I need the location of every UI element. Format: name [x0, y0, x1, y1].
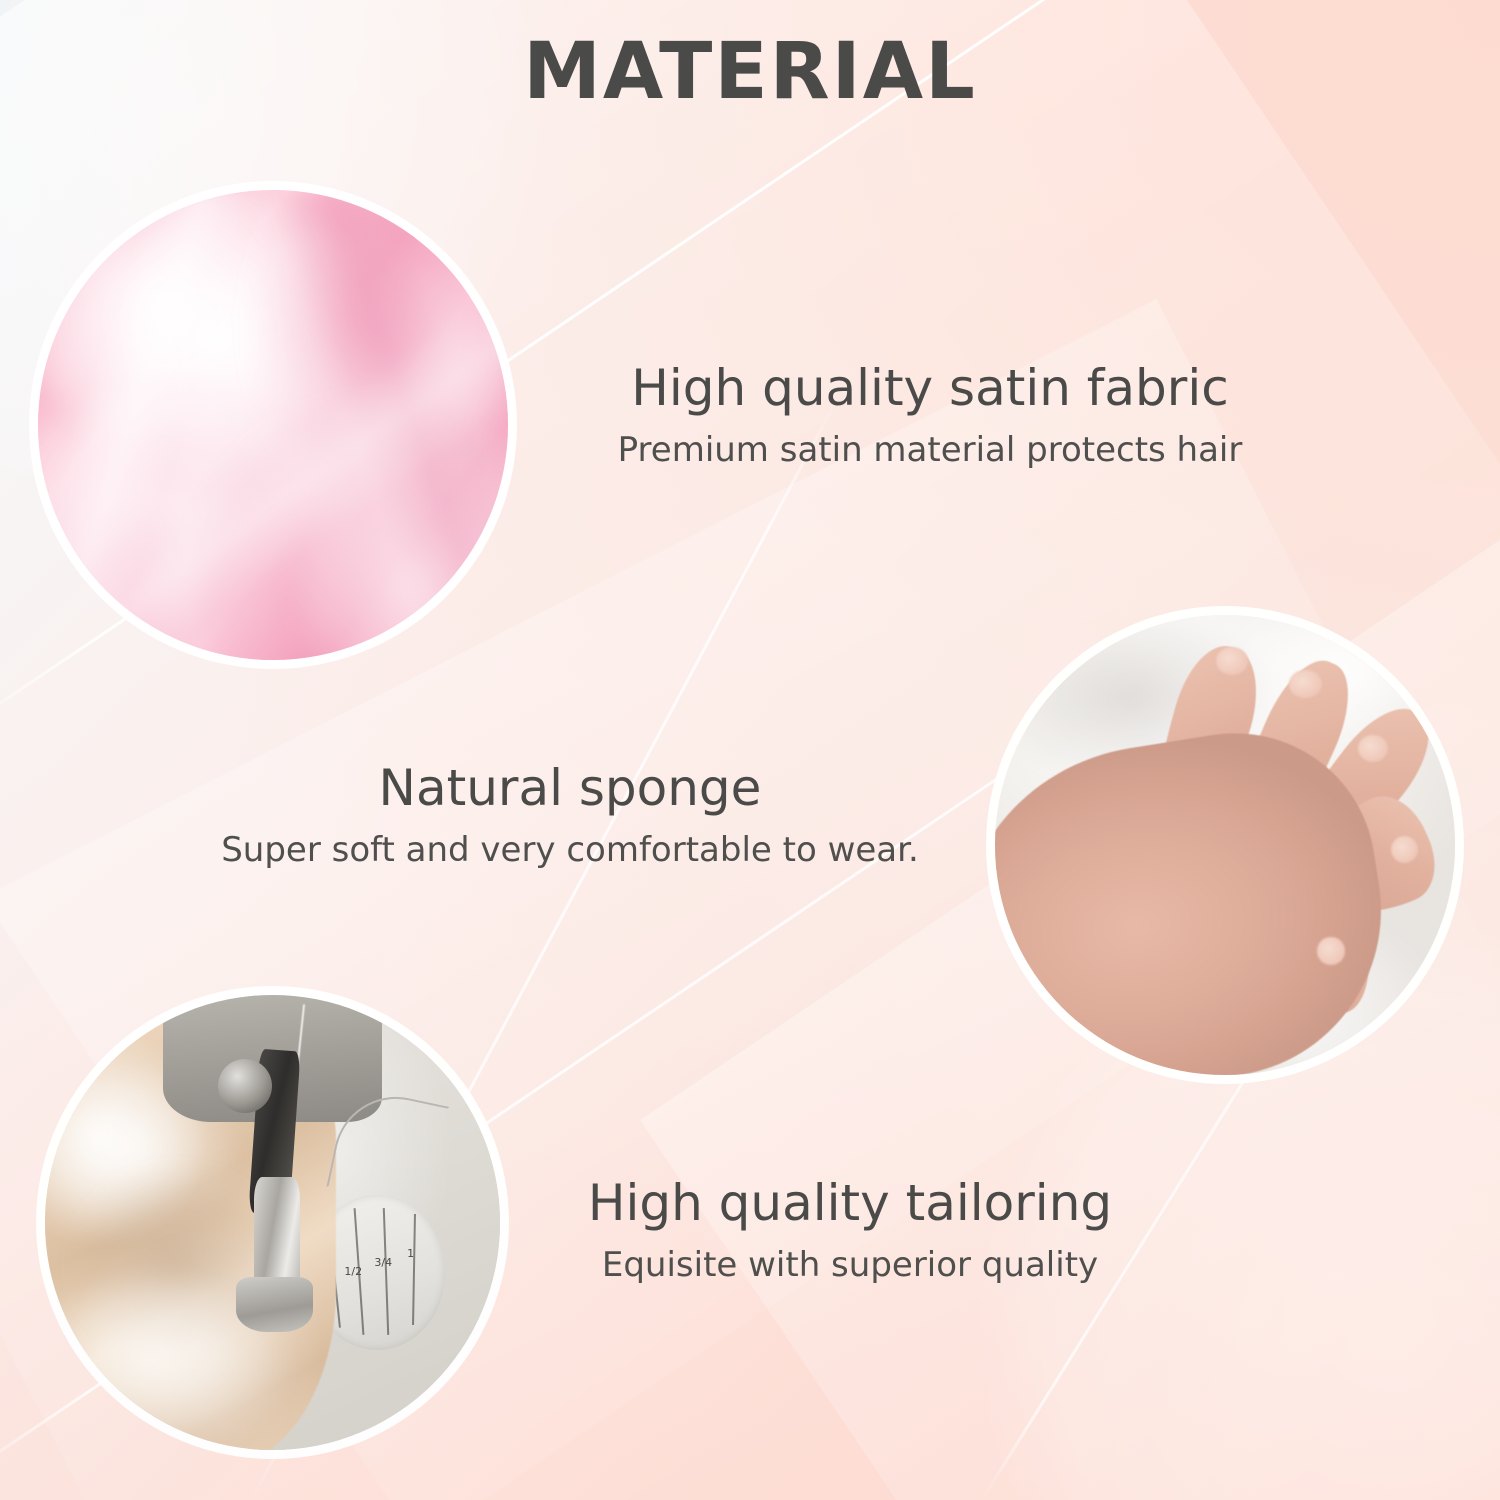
fingernail-5 [1317, 937, 1345, 965]
feature-satin-fabric: High quality satin fabric Premium satin … [560, 360, 1300, 471]
feature-natural-sponge-subtitle: Super soft and very comfortable to wear. [160, 830, 980, 871]
pink-satin-fabric-photo [38, 190, 508, 660]
feature-natural-sponge: Natural sponge Super soft and very comfo… [160, 760, 980, 871]
feature-high-quality-tailoring-subtitle: Equisite with superior quality [500, 1245, 1200, 1286]
dial-mark-half: 1/2 [344, 1266, 362, 1277]
feature-satin-fabric-title: High quality satin fabric [560, 360, 1300, 416]
feature-natural-sponge-title: Natural sponge [160, 760, 980, 816]
hand-pressing-foam-sponge-photo [995, 615, 1455, 1075]
fingernail-1 [1216, 647, 1248, 675]
dial-guide-line-3 [383, 1208, 389, 1335]
sewing-presser-foot-toe [236, 1277, 313, 1332]
fingernail-2 [1289, 670, 1321, 698]
dial-guide-line-4 [412, 1214, 415, 1325]
feature-satin-fabric-subtitle: Premium satin material protects hair [560, 430, 1300, 471]
feature-high-quality-tailoring-title: High quality tailoring [500, 1175, 1200, 1231]
sewing-machine-stitching-satin-photo: 1/4 1/2 3/4 1 [45, 995, 500, 1450]
page-title: MATERIAL [0, 30, 1500, 116]
material-infographic: MATERIAL High quality satin fabric Premi… [0, 0, 1500, 1500]
dial-mark-one: 1 [407, 1248, 414, 1259]
satin-sheen-overlay [38, 190, 508, 660]
dial-mark-three-quarter: 3/4 [374, 1257, 392, 1268]
feature-high-quality-tailoring: High quality tailoring Equisite with sup… [500, 1175, 1200, 1286]
